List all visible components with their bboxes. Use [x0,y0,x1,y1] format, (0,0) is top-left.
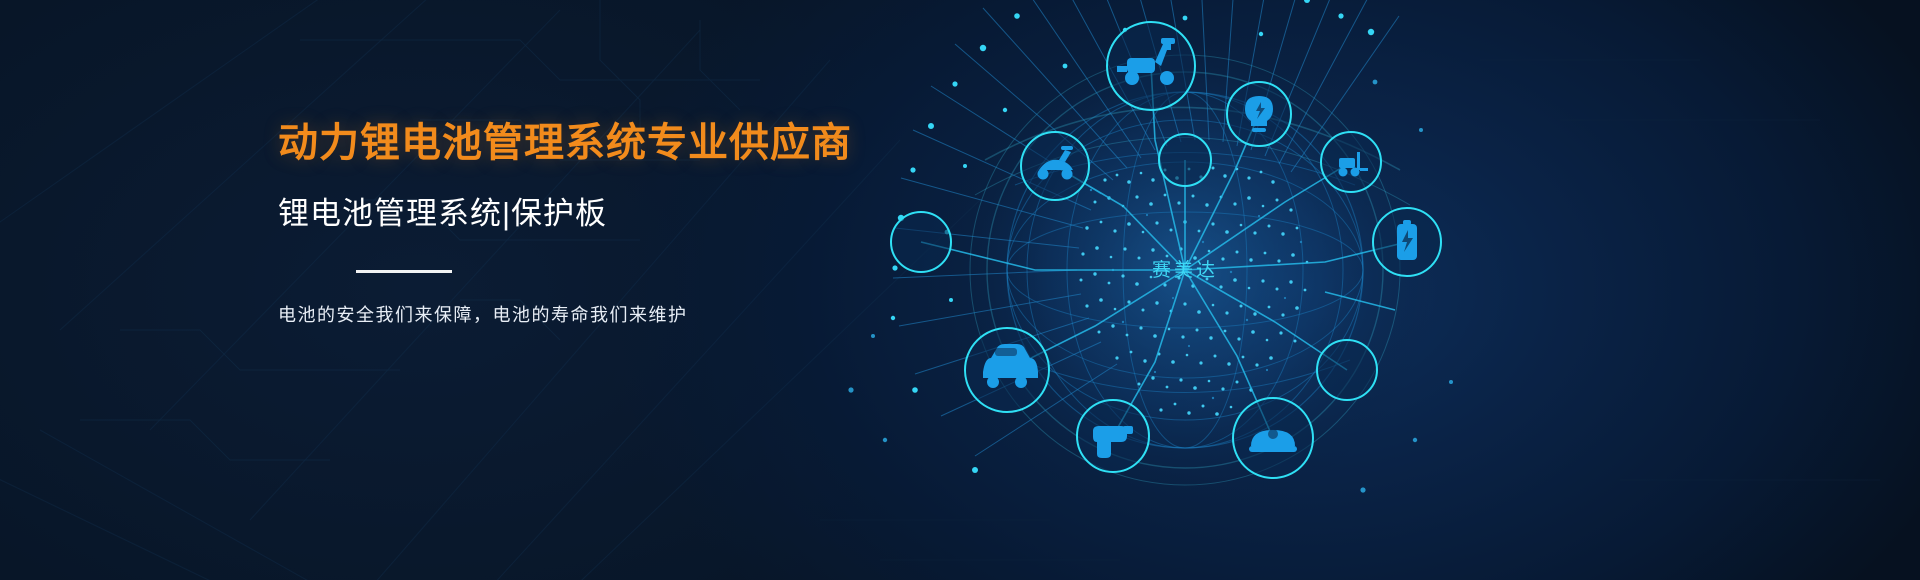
hero-text-block: 动力锂电池管理系统专业供应商 锂电池管理系统|保护板 电池的安全我们来保障，电池… [278,120,838,329]
page-title: 动力锂电池管理系统专业供应商 [278,120,838,167]
globe-node-car[interactable] [965,328,1049,412]
globe-node-empty-b[interactable] [1317,340,1377,400]
globe-node-drill[interactable] [1077,400,1149,472]
globe-node-empty-a[interactable] [891,212,951,272]
page-subtitle: 锂电池管理系统|保护板 [278,195,838,232]
hero-banner: 动力锂电池管理系统专业供应商 锂电池管理系统|保护板 电池的安全我们来保障，电池… [0,0,1920,580]
page-tagline: 电池的安全我们来保障，电池的寿命我们来维护 [278,303,838,328]
globe-brand-label: 赛美达 [1152,259,1218,281]
power-bank-icon [1397,220,1417,260]
globe-node-robot[interactable] [1233,398,1313,478]
globe-node-powerbank[interactable] [1373,208,1441,276]
globe-node-scooter[interactable] [1107,22,1195,110]
globe-node-bulb[interactable] [1227,82,1291,146]
globe-node-ebike[interactable] [1021,132,1089,200]
globe-node-forklift[interactable] [1321,132,1381,192]
title-divider [356,270,452,273]
globe-node-empty-c[interactable] [1159,134,1211,186]
network-globe-graphic: 赛美达 [855,0,1475,580]
